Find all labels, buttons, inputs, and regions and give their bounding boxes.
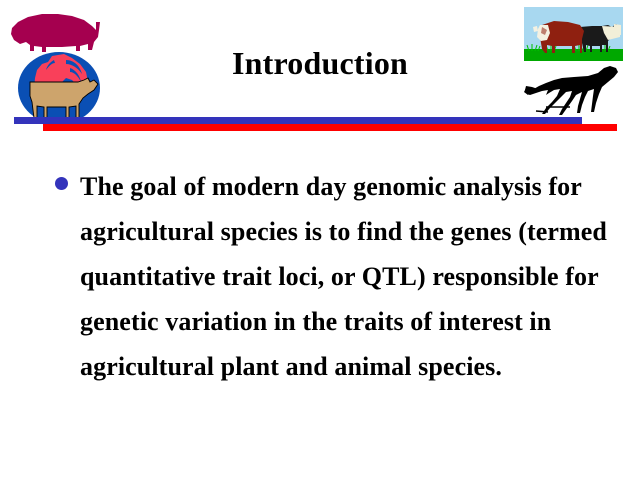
list-item: The goal of modern day genomic analysis … xyxy=(54,164,624,389)
divider-bar-red xyxy=(43,124,617,131)
divider-bar-blue xyxy=(14,117,582,124)
slide-body: The goal of modern day genomic analysis … xyxy=(54,164,624,389)
livestock-logo-icon xyxy=(4,4,108,124)
page-title: Introduction xyxy=(120,44,520,82)
pig-silhouette-icon xyxy=(11,14,100,52)
galloping-horse-silhouette-icon xyxy=(524,62,623,118)
bullet-text: The goal of modern day genomic analysis … xyxy=(80,164,624,389)
cattle-in-pasture-image xyxy=(524,7,623,61)
slide: Introduction The goal of modern day geno… xyxy=(0,0,640,480)
bullet-dot-icon xyxy=(55,177,68,190)
